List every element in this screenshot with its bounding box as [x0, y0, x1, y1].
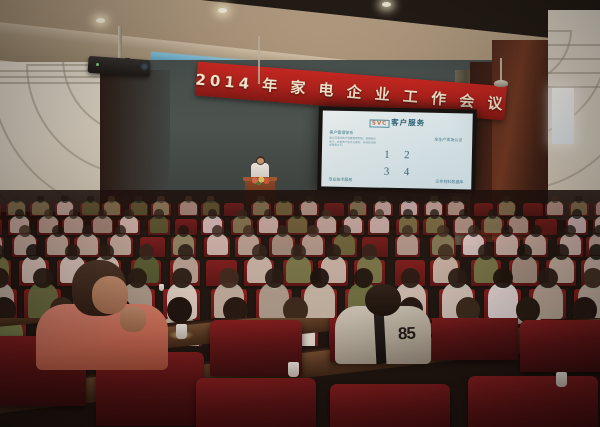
audience-member-torso [317, 216, 335, 233]
audience-member-head [478, 244, 493, 260]
audience-member-head [575, 196, 583, 203]
empty-auditorium-seat [330, 384, 450, 427]
audience-member-head [375, 209, 384, 219]
audience-member-head [501, 225, 513, 237]
empty-auditorium-seat [520, 320, 600, 372]
slide-top-right-label: 全生产现场认证 [434, 137, 462, 144]
conference-hall-photo: 2014 年 家 电 企 业 工 作 会 议 SVC客户服务 客户管理体系 建立… [0, 0, 600, 427]
slide-number: 3 [384, 166, 390, 178]
audience-member-head [44, 209, 53, 219]
audience-member-head [452, 196, 460, 203]
audience-member-head [280, 196, 288, 203]
presentation-slide: SVC客户服务 客户管理体系 建立完善的客户档案管理制度，定期回访客户，收集客户… [321, 110, 473, 189]
projector-led-icon [96, 63, 99, 66]
audience-member-head [61, 196, 69, 203]
ceiling-downlight [382, 2, 391, 7]
audience-member-head [583, 268, 600, 289]
audience-member-torso [64, 216, 82, 233]
audience-member-torso [286, 256, 311, 283]
audience-member-head [430, 196, 438, 203]
audience-member-head [52, 225, 64, 237]
projection-screen-frame: SVC客户服务 客户管理体系 建立完善的客户档案管理制度，定期回访客户，收集客户… [317, 106, 477, 193]
audience-member-torso [180, 201, 196, 215]
auditorium-seat [0, 219, 2, 235]
audience-member-head [99, 244, 114, 260]
audience-member-head [530, 225, 542, 237]
audience-member-head [307, 225, 319, 237]
audience-member-head [326, 244, 341, 260]
audience-member-head [237, 209, 246, 219]
audience-member-torso [276, 201, 292, 215]
ceiling-downlight [96, 18, 105, 23]
attendee-hand [120, 306, 146, 332]
audience-member-torso [207, 234, 228, 255]
audience-member-head [354, 196, 362, 203]
audience-member-head [517, 244, 532, 260]
audience-member-head [468, 225, 480, 237]
audience-member-head [208, 209, 217, 219]
audience-member-torso [370, 216, 388, 233]
projector-mount-pole [118, 26, 122, 60]
empty-auditorium-seat [196, 378, 316, 427]
audience-member-head [219, 268, 239, 289]
audience-member-head [493, 268, 513, 289]
slide-title-badge: SVC [370, 119, 389, 127]
audience-member-head [98, 209, 107, 219]
audience-member-head [379, 196, 387, 203]
attendee-jersey-85: 85 [335, 292, 431, 364]
flower-arrangement [247, 176, 273, 185]
empty-auditorium-seat [432, 318, 518, 360]
audience-member-torso [82, 201, 98, 215]
audience-member-torso [304, 283, 334, 319]
audience-member-head [178, 244, 193, 260]
audience-member-head [172, 268, 192, 289]
audience-member-head [405, 196, 413, 203]
audience-member-torso [150, 216, 168, 233]
audience-member-torso [512, 256, 537, 283]
audience-member-head [594, 225, 600, 237]
audience-member-head [291, 244, 306, 260]
empty-auditorium-seat [468, 376, 598, 427]
audience-member-head [264, 209, 273, 219]
slide-number: 1 [384, 149, 390, 161]
audience-member-head [430, 209, 439, 219]
projector-lens-icon [140, 62, 149, 71]
audience-member-head [257, 196, 265, 203]
audience-member-torso [93, 216, 111, 233]
audience-member-head [538, 268, 558, 289]
audience-member-head [564, 225, 576, 237]
audience-member-head [178, 225, 190, 237]
audience-member-head [154, 209, 163, 219]
paper-cup [176, 324, 187, 339]
hanging-mic-icon [494, 80, 508, 87]
audience-member-torso [496, 234, 517, 255]
paper-cup [556, 372, 567, 387]
paper-cup [288, 362, 299, 377]
jersey-number: 85 [398, 324, 416, 345]
audience-member-torso [547, 201, 563, 215]
audience-member-head [139, 244, 154, 260]
audience-member-head [293, 209, 302, 219]
audience-member-head [252, 244, 267, 260]
audience-member-head [554, 244, 569, 260]
audience-member-head [65, 244, 80, 260]
audience-member-head [437, 225, 449, 237]
audience-member-head [402, 225, 414, 237]
audience-member-head [82, 225, 94, 237]
audience-member-head [19, 225, 31, 237]
audience-member-head [115, 225, 127, 237]
speaker-face [257, 158, 264, 164]
window-panel [552, 88, 574, 144]
auditorium-seat [0, 203, 1, 216]
ceiling-downlight [218, 8, 227, 13]
audience-member-head [277, 225, 289, 237]
audience-member-head [157, 196, 165, 203]
audience-member-torso [259, 216, 277, 233]
audience-member-head [212, 225, 224, 237]
audience-member-torso [484, 216, 502, 233]
audience-member-head [124, 209, 133, 219]
audience-member-head [322, 209, 331, 219]
slide-number: 2 [404, 149, 410, 161]
audience-member-torso [77, 234, 98, 255]
jersey-attendee-head [365, 284, 401, 316]
audience-member-torso [488, 283, 518, 319]
audience-member-head [459, 209, 468, 219]
audience-member-torso [301, 201, 317, 215]
audience-member-head [488, 209, 497, 219]
slide-bottom-left-label: 专业技术服务 [328, 177, 352, 184]
slide-number: 4 [404, 166, 410, 178]
audience-member-head [135, 196, 143, 203]
hanging-mic-wire [258, 36, 260, 84]
projection-screen: SVC客户服务 客户管理体系 建立完善的客户档案管理制度，定期回访客户，收集客户… [321, 110, 473, 189]
audience-member-head [551, 196, 559, 203]
audience-member-head [403, 209, 412, 219]
audience-member-head [15, 209, 24, 219]
audience-member-head [243, 225, 255, 237]
slide-bottom-right-label: 元件材料数据库 [435, 179, 463, 186]
audience-member-head [349, 209, 358, 219]
audience-member-torso [397, 234, 418, 255]
audience-member-torso [499, 201, 515, 215]
auditorium-seat [523, 203, 543, 216]
audience-member-torso [288, 216, 306, 233]
audience-member-head [572, 209, 581, 219]
audience-member-torso [272, 234, 293, 255]
audience-member-head [339, 225, 351, 237]
audience-member-head [589, 244, 600, 260]
audience-member-head [514, 209, 523, 219]
audience-member-head [69, 209, 78, 219]
slide-title: 客户服务 [391, 118, 425, 128]
slide-title-row: SVC客户服务 [329, 116, 465, 130]
foreground-attendee [36, 260, 168, 370]
